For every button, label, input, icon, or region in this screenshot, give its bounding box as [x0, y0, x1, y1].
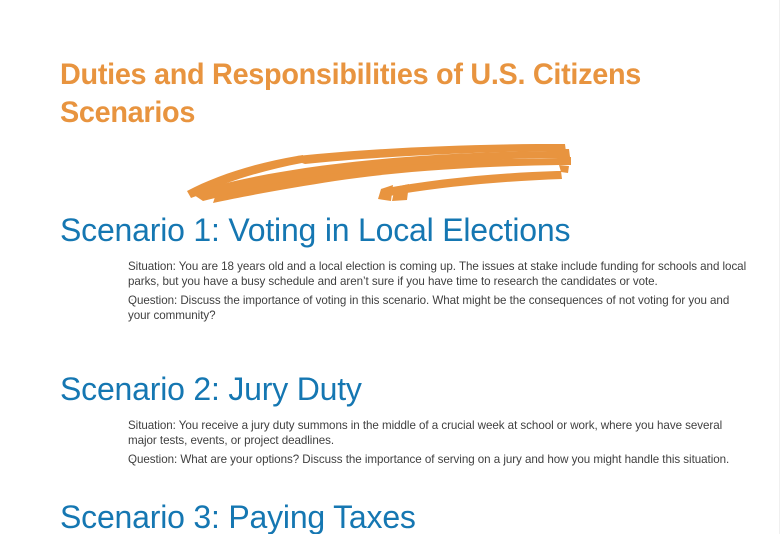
- bullet-text: Situation: You are 18 years old and a lo…: [128, 259, 750, 290]
- bullet-text: Question: Discuss the importance of voti…: [128, 293, 750, 324]
- bullet-text: Question: What are your options? Discuss…: [128, 452, 750, 467]
- slide-title-line-2: Scenarios: [60, 96, 195, 129]
- list-item: · Situation: You receive a jury duty sum…: [60, 418, 750, 449]
- slide-title-block: Duties and Responsibilities of U.S. Citi…: [60, 56, 740, 132]
- bullet-marker-icon: ·: [129, 259, 135, 274]
- list-item: · Situation: You are 18 years old and a …: [60, 259, 750, 290]
- scenario-heading-1: Scenario 1: Voting in Local Elections: [60, 211, 750, 249]
- slide-title-line-1: Duties and Responsibilities of U.S. Citi…: [60, 58, 641, 91]
- scenario-bullet-list-2: · Situation: You receive a jury duty sum…: [60, 418, 750, 467]
- scenario-bullet-list-1: · Situation: You are 18 years old and a …: [60, 259, 750, 324]
- scenario-section-3: Scenario 3: Paying Taxes: [60, 498, 750, 534]
- scenario-heading-3: Scenario 3: Paying Taxes: [60, 498, 750, 534]
- bullet-marker-icon: ·: [129, 452, 135, 467]
- scenario-heading-2: Scenario 2: Jury Duty: [60, 370, 750, 408]
- scenario-section-1: Scenario 1: Voting in Local Elections · …: [60, 211, 750, 327]
- bullet-marker-icon: ·: [129, 418, 135, 433]
- list-item: · Question: Discuss the importance of vo…: [60, 293, 750, 324]
- bullet-text: Situation: You receive a jury duty summo…: [128, 418, 750, 449]
- scenario-section-2: Scenario 2: Jury Duty · Situation: You r…: [60, 370, 750, 470]
- brush-underline-decoration: [185, 143, 575, 205]
- bullet-marker-icon: ·: [129, 293, 135, 308]
- list-item: · Question: What are your options? Discu…: [60, 452, 750, 467]
- presentation-slide: Duties and Responsibilities of U.S. Citi…: [0, 0, 780, 534]
- page-title: Duties and Responsibilities of U.S. Citi…: [60, 56, 713, 132]
